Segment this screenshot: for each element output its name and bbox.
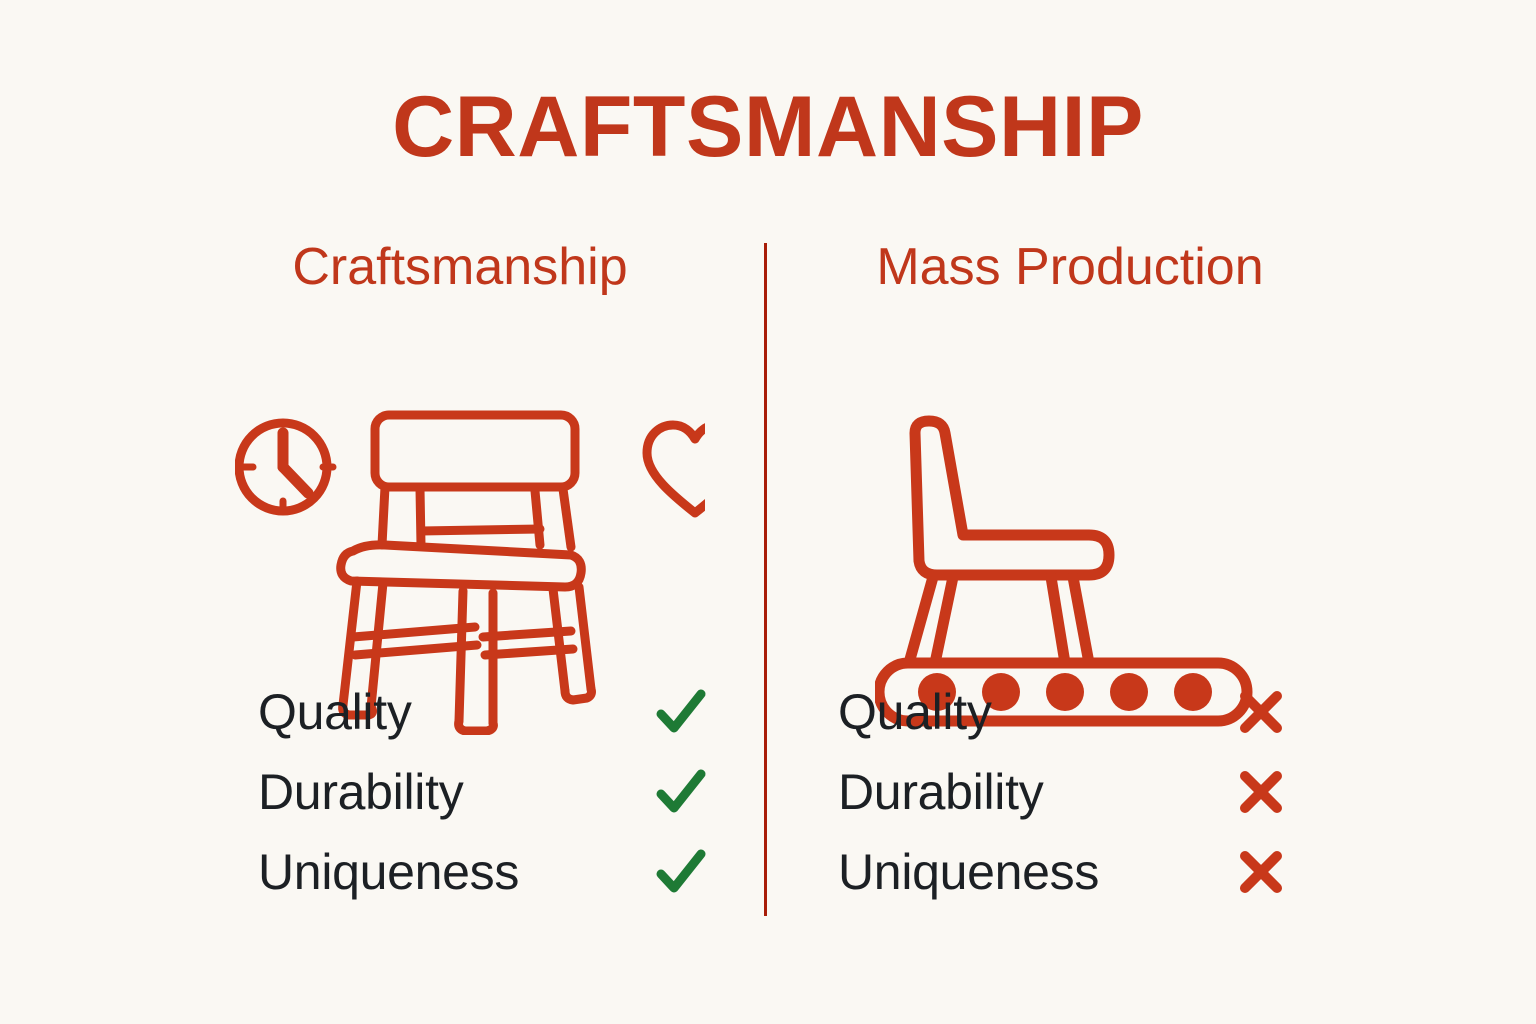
check-icon [652,683,710,741]
attribute-list-craftsmanship: Quality Durability Uniqueness [258,672,728,912]
attribute-label: Uniqueness [258,847,519,897]
column-divider [764,243,767,916]
attribute-list-mass-production: Quality Durability Uniqueness [838,672,1308,912]
check-icon [652,843,710,901]
column-heading-craftsmanship: Craftsmanship [180,240,740,295]
attribute-label: Uniqueness [838,847,1099,897]
column-mass-production: Mass Production [790,240,1350,667]
craftsmanship-illustration [180,317,740,667]
infographic-poster: CRAFTSMANSHIP Craftsmanship [0,0,1536,1024]
attribute-row: Quality [838,672,1308,752]
attribute-row: Durability [258,752,728,832]
attribute-label: Durability [258,767,463,817]
attribute-row: Durability [838,752,1308,832]
column-craftsmanship: Craftsmanship [180,240,740,667]
cross-icon [1232,683,1290,741]
check-icon [652,763,710,821]
cross-icon [1232,843,1290,901]
page-title: CRAFTSMANSHIP [0,82,1536,172]
mass-production-illustration [790,317,1350,667]
column-heading-mass-production: Mass Production [790,240,1350,295]
attribute-label: Durability [838,767,1043,817]
clock-icon [239,423,333,511]
attribute-row: Uniqueness [258,832,728,912]
heart-icon [647,425,705,513]
attribute-label: Quality [258,687,412,737]
attribute-row: Uniqueness [838,832,1308,912]
cross-icon [1232,763,1290,821]
attribute-label: Quality [838,687,992,737]
attribute-row: Quality [258,672,728,752]
